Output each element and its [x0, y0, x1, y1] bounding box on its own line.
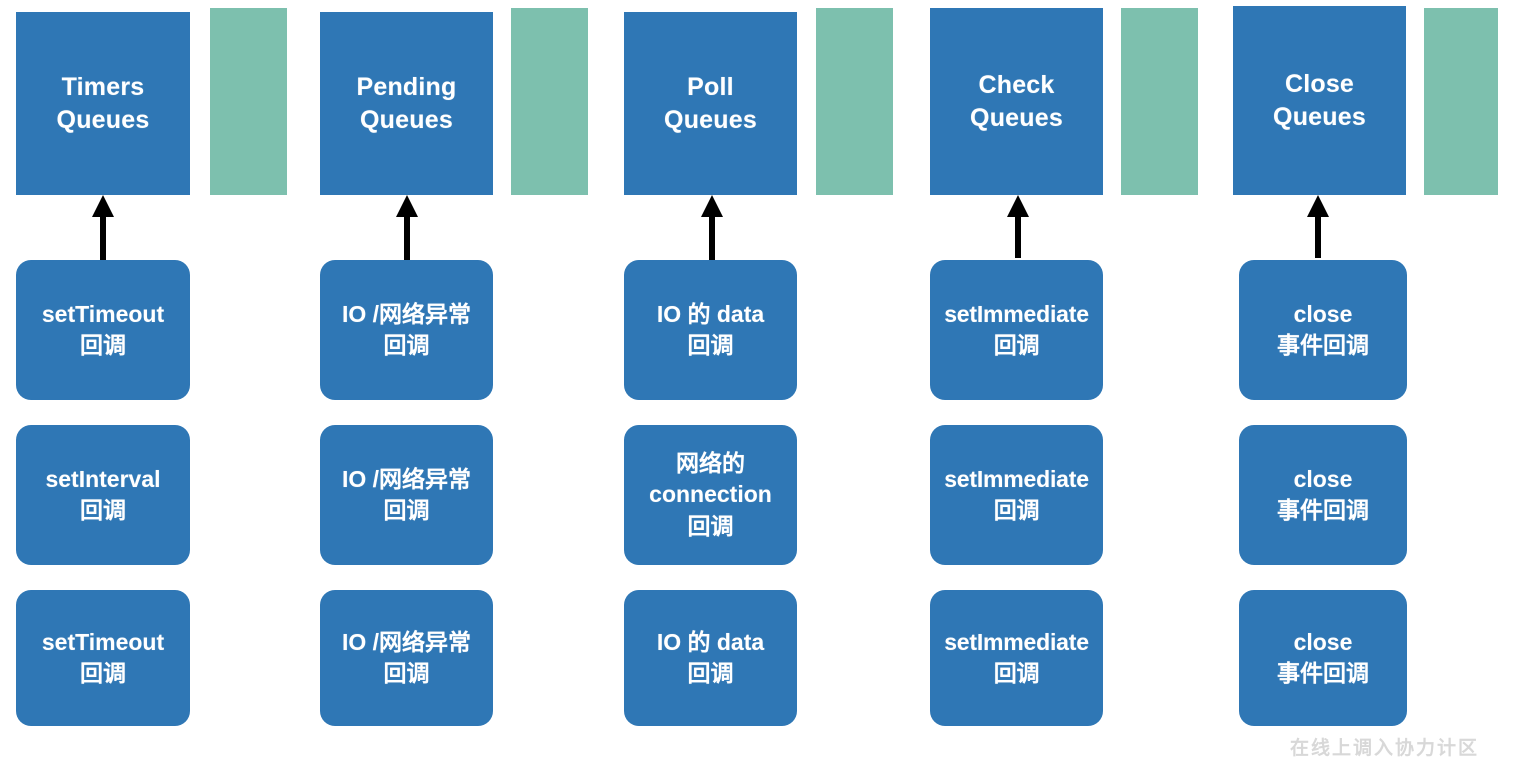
up-arrow-poll: [699, 195, 725, 262]
queue-header-line2-pending: Queues: [356, 104, 456, 137]
callback-line1-poll-2: 网络的 connection: [632, 448, 789, 511]
callback-line2-timers-1: 回调: [24, 330, 182, 361]
callback-label-check-3: setImmediate回调: [938, 627, 1095, 690]
callback-label-check-2: setImmediate回调: [938, 464, 1095, 527]
callback-line1-pending-1: IO /网络异常: [328, 299, 485, 330]
queue-header-line2-timers: Queues: [57, 104, 150, 137]
callback-label-close-2: close事件回调: [1247, 464, 1399, 527]
callback-label-poll-2: 网络的 connection回调: [632, 448, 789, 542]
callback-line2-close-3: 事件回调: [1247, 658, 1399, 689]
callback-line2-close-2: 事件回调: [1247, 495, 1399, 526]
callback-line1-check-2: setImmediate: [938, 464, 1095, 495]
queue-header-line2-poll: Queues: [664, 104, 757, 137]
callback-line1-pending-2: IO /网络异常: [328, 464, 485, 495]
callback-label-timers-3: setTimeout回调: [24, 627, 182, 690]
callback-line2-timers-3: 回调: [24, 658, 182, 689]
queue-header-label-close: CloseQueues: [1273, 68, 1366, 134]
callback-box-timers-2[interactable]: setInterval回调: [16, 425, 190, 565]
callback-box-poll-2[interactable]: 网络的 connection回调: [624, 425, 797, 565]
callback-label-pending-2: IO /网络异常回调: [328, 464, 485, 527]
callback-line1-poll-3: IO 的 data: [632, 627, 789, 658]
callback-line1-timers-2: setInterval: [24, 464, 182, 495]
callback-box-timers-1[interactable]: setTimeout回调: [16, 260, 190, 400]
callback-line2-check-2: 回调: [938, 495, 1095, 526]
callback-line1-close-3: close: [1247, 627, 1399, 658]
callback-line2-timers-2: 回调: [24, 495, 182, 526]
callback-line1-timers-1: setTimeout: [24, 299, 182, 330]
callback-box-poll-1[interactable]: IO 的 data回调: [624, 260, 797, 400]
callback-box-check-2[interactable]: setImmediate回调: [930, 425, 1103, 565]
callback-line2-pending-2: 回调: [328, 495, 485, 526]
callback-line1-poll-1: IO 的 data: [632, 299, 789, 330]
queue-header-poll[interactable]: PollQueues: [624, 12, 797, 195]
callback-line2-close-1: 事件回调: [1247, 330, 1399, 361]
callback-label-pending-3: IO /网络异常回调: [328, 627, 485, 690]
accent-bar-check: [1121, 8, 1198, 195]
callback-label-timers-1: setTimeout回调: [24, 299, 182, 362]
callback-label-poll-1: IO 的 data回调: [632, 299, 789, 362]
callback-box-check-3[interactable]: setImmediate回调: [930, 590, 1103, 726]
callback-line2-check-3: 回调: [938, 658, 1095, 689]
callback-line1-pending-3: IO /网络异常: [328, 627, 485, 658]
callback-box-pending-1[interactable]: IO /网络异常回调: [320, 260, 493, 400]
queue-header-check[interactable]: CheckQueues: [930, 8, 1103, 195]
callback-label-close-3: close事件回调: [1247, 627, 1399, 690]
queue-header-line1-check: Check: [970, 69, 1063, 102]
queue-header-label-pending: PendingQueues: [356, 71, 456, 137]
up-arrow-pending: [394, 195, 420, 262]
callback-box-close-1[interactable]: close事件回调: [1239, 260, 1407, 400]
event-loop-queues-diagram: TimersQueuessetTimeout回调setInterval回调set…: [0, 0, 1516, 748]
queue-header-label-check: CheckQueues: [970, 69, 1063, 135]
callback-line2-pending-1: 回调: [328, 330, 485, 361]
callback-line2-pending-3: 回调: [328, 658, 485, 689]
queue-header-line2-close: Queues: [1273, 101, 1366, 134]
callback-label-close-1: close事件回调: [1247, 299, 1399, 362]
watermark-text: 在线上调入协力计区: [1290, 733, 1479, 760]
callback-line1-timers-3: setTimeout: [24, 627, 182, 658]
callback-line1-close-2: close: [1247, 464, 1399, 495]
accent-bar-poll: [816, 8, 893, 195]
callback-line2-poll-2: 回调: [632, 511, 789, 542]
callback-label-timers-2: setInterval回调: [24, 464, 182, 527]
accent-bar-pending: [511, 8, 588, 195]
queue-header-label-poll: PollQueues: [664, 71, 757, 137]
callback-line2-check-1: 回调: [938, 330, 1095, 361]
callback-box-pending-3[interactable]: IO /网络异常回调: [320, 590, 493, 726]
up-arrow-check: [1005, 195, 1031, 258]
up-arrow-timers: [90, 195, 116, 262]
callback-box-poll-3[interactable]: IO 的 data回调: [624, 590, 797, 726]
callback-box-timers-3[interactable]: setTimeout回调: [16, 590, 190, 726]
queue-header-pending[interactable]: PendingQueues: [320, 12, 493, 195]
callback-label-pending-1: IO /网络异常回调: [328, 299, 485, 362]
accent-bar-close: [1424, 8, 1498, 195]
callback-line1-check-3: setImmediate: [938, 627, 1095, 658]
callback-line2-poll-1: 回调: [632, 330, 789, 361]
queue-header-line1-close: Close: [1273, 68, 1366, 101]
queue-header-close[interactable]: CloseQueues: [1233, 6, 1406, 195]
callback-box-check-1[interactable]: setImmediate回调: [930, 260, 1103, 400]
up-arrow-close: [1305, 195, 1331, 258]
callback-line1-check-1: setImmediate: [938, 299, 1095, 330]
callback-line2-poll-3: 回调: [632, 658, 789, 689]
queue-header-timers[interactable]: TimersQueues: [16, 12, 190, 195]
callback-box-pending-2[interactable]: IO /网络异常回调: [320, 425, 493, 565]
callback-label-poll-3: IO 的 data回调: [632, 627, 789, 690]
queue-header-line1-timers: Timers: [57, 71, 150, 104]
callback-label-check-1: setImmediate回调: [938, 299, 1095, 362]
queue-header-line2-check: Queues: [970, 102, 1063, 135]
queue-header-line1-pending: Pending: [356, 71, 456, 104]
accent-bar-timers: [210, 8, 287, 195]
callback-box-close-3[interactable]: close事件回调: [1239, 590, 1407, 726]
queue-header-line1-poll: Poll: [664, 71, 757, 104]
callback-box-close-2[interactable]: close事件回调: [1239, 425, 1407, 565]
queue-header-label-timers: TimersQueues: [57, 71, 150, 137]
callback-line1-close-1: close: [1247, 299, 1399, 330]
